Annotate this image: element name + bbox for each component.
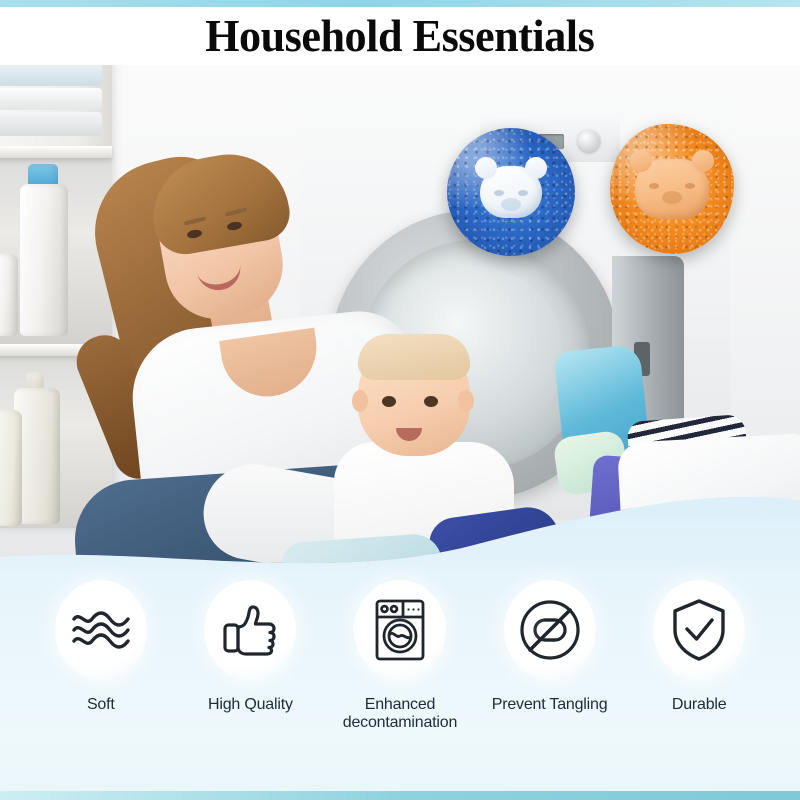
bear-ear [475, 157, 497, 179]
no-tangle-icon [518, 598, 582, 662]
bear-eye [685, 183, 695, 189]
feature-enhanced-decontamination: Enhanced decontamination [325, 580, 475, 732]
feature-label: Prevent Tangling [492, 696, 608, 714]
folded-towel [0, 64, 102, 86]
folded-towel [0, 112, 102, 136]
feature-icon-circle [504, 580, 596, 680]
bear-face-icon [635, 159, 709, 219]
detergent-bottle [0, 410, 22, 526]
bottom-accent-strip [0, 791, 800, 800]
feature-prevent-tangling: Prevent Tangling [475, 580, 625, 714]
detergent-bottle [0, 254, 18, 336]
feature-soft: Soft [26, 580, 176, 714]
top-accent-strip [0, 0, 800, 7]
blue-lint-catcher-ball [447, 128, 575, 256]
bear-ear [525, 157, 547, 179]
feature-icon-circle [354, 580, 446, 680]
washing-machine-icon [375, 599, 425, 661]
thumbs-up-icon [222, 603, 278, 657]
folded-towel [0, 88, 102, 110]
feature-label: Enhanced decontamination [325, 696, 475, 732]
shield-check-icon [671, 598, 727, 662]
waves-icon [70, 608, 132, 652]
bear-ear [692, 150, 714, 172]
title-band: Household Essentials [0, 7, 800, 65]
feature-label: Durable [672, 696, 727, 714]
bear-face-icon [480, 166, 542, 218]
bear-eye [649, 183, 659, 189]
baby-hair [358, 334, 470, 380]
baby-ear [352, 390, 368, 412]
feature-label: High Quality [208, 696, 293, 714]
feature-icon-circle [204, 580, 296, 680]
feature-icon-circle [653, 580, 745, 680]
baby-eye [382, 396, 396, 407]
feature-durable: Durable [624, 580, 774, 714]
bear-eye [494, 190, 504, 196]
feature-list: Soft High Quality [0, 580, 800, 760]
bear-snout [662, 191, 682, 204]
feature-label: Soft [87, 696, 115, 714]
machine-knob [578, 130, 600, 152]
product-poster: Household Essentials [0, 0, 800, 800]
feature-high-quality: High Quality [176, 580, 326, 714]
orange-lint-catcher-ball [610, 124, 734, 254]
detergent-bottle [20, 184, 68, 336]
bear-eye [518, 190, 528, 196]
page-title: Household Essentials [205, 13, 594, 59]
baby-ear [458, 390, 474, 412]
bear-ear [630, 150, 652, 172]
feature-icon-circle [55, 580, 147, 680]
baby-eye [424, 396, 438, 407]
bear-snout [501, 198, 521, 211]
